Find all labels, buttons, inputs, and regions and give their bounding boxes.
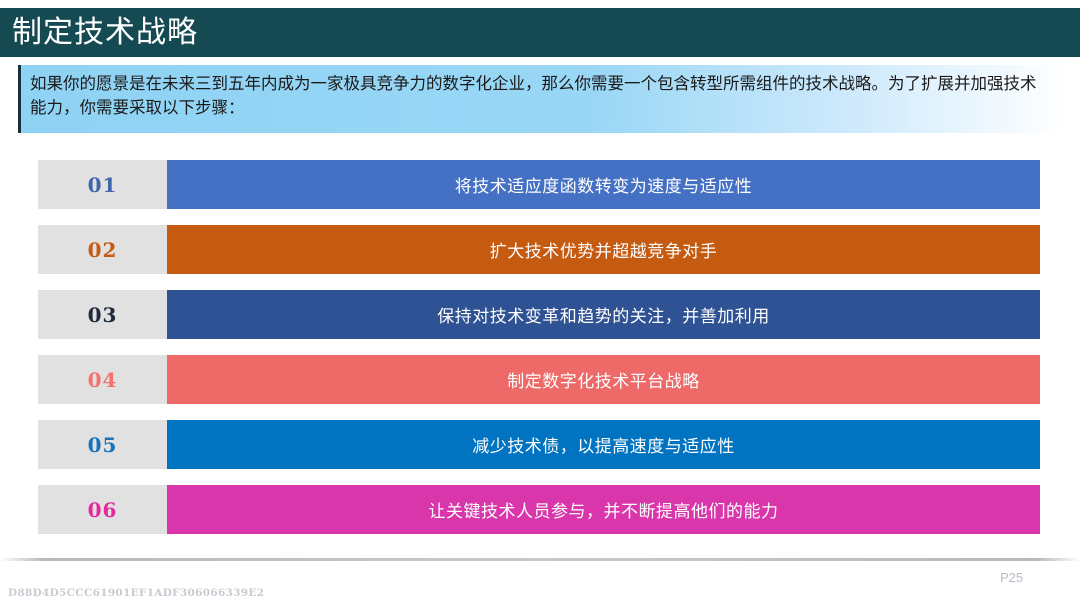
step-number: 03 <box>88 303 118 327</box>
step-number: 05 <box>88 433 118 457</box>
list-item[interactable]: 03 保持对技术变革和趋势的关注，并善加利用 <box>38 290 1040 339</box>
slide-canvas: 制定技术战略 如果你的愿景是在未来三到五年内成为一家极具竞争力的数字化企业，那么… <box>0 0 1080 607</box>
step-number-box: 06 <box>38 485 167 534</box>
slide-title-bar: 制定技术战略 <box>0 8 1080 57</box>
watermark-code: D88D4D5CCC61901EF1ADF306066339E2 <box>8 587 264 599</box>
step-number-box: 01 <box>38 160 167 209</box>
steps-list: 01 将技术适应度函数转变为速度与适应性 02 扩大技术优势并超越竞争对手 03… <box>38 160 1040 550</box>
list-item[interactable]: 02 扩大技术优势并超越竞争对手 <box>38 225 1040 274</box>
step-bar[interactable]: 让关键技术人员参与，并不断提高他们的能力 <box>167 485 1040 534</box>
step-number: 02 <box>88 238 118 262</box>
step-label: 将技术适应度函数转变为速度与适应性 <box>455 172 753 197</box>
step-bar[interactable]: 扩大技术优势并超越竞争对手 <box>167 225 1040 274</box>
step-bar[interactable]: 保持对技术变革和趋势的关注，并善加利用 <box>167 290 1040 339</box>
list-item[interactable]: 05 减少技术债，以提高速度与适应性 <box>38 420 1040 469</box>
step-label: 制定数字化技术平台战略 <box>507 367 700 392</box>
step-number-box: 03 <box>38 290 167 339</box>
step-number-box: 04 <box>38 355 167 404</box>
list-item[interactable]: 06 让关键技术人员参与，并不断提高他们的能力 <box>38 485 1040 534</box>
list-item[interactable]: 04 制定数字化技术平台战略 <box>38 355 1040 404</box>
step-bar[interactable]: 减少技术债，以提高速度与适应性 <box>167 420 1040 469</box>
step-number-box: 02 <box>38 225 167 274</box>
intro-paragraph: 如果你的愿景是在未来三到五年内成为一家极具竞争力的数字化企业，那么你需要一个包含… <box>30 72 1050 120</box>
step-label: 扩大技术优势并超越竞争对手 <box>490 237 718 262</box>
step-label: 保持对技术变革和趋势的关注，并善加利用 <box>437 302 770 327</box>
footer-divider <box>0 558 1080 561</box>
step-label: 减少技术债，以提高速度与适应性 <box>472 432 735 457</box>
step-bar[interactable]: 制定数字化技术平台战略 <box>167 355 1040 404</box>
step-number: 06 <box>88 498 118 522</box>
intro-accent-bar <box>18 65 21 133</box>
step-number: 01 <box>88 173 118 197</box>
step-bar[interactable]: 将技术适应度函数转变为速度与适应性 <box>167 160 1040 209</box>
page-title: 制定技术战略 <box>0 18 198 48</box>
list-item[interactable]: 01 将技术适应度函数转变为速度与适应性 <box>38 160 1040 209</box>
step-label: 让关键技术人员参与，并不断提高他们的能力 <box>429 497 779 522</box>
page-number: P25 <box>1000 570 1023 585</box>
step-number: 04 <box>88 368 118 392</box>
step-number-box: 05 <box>38 420 167 469</box>
